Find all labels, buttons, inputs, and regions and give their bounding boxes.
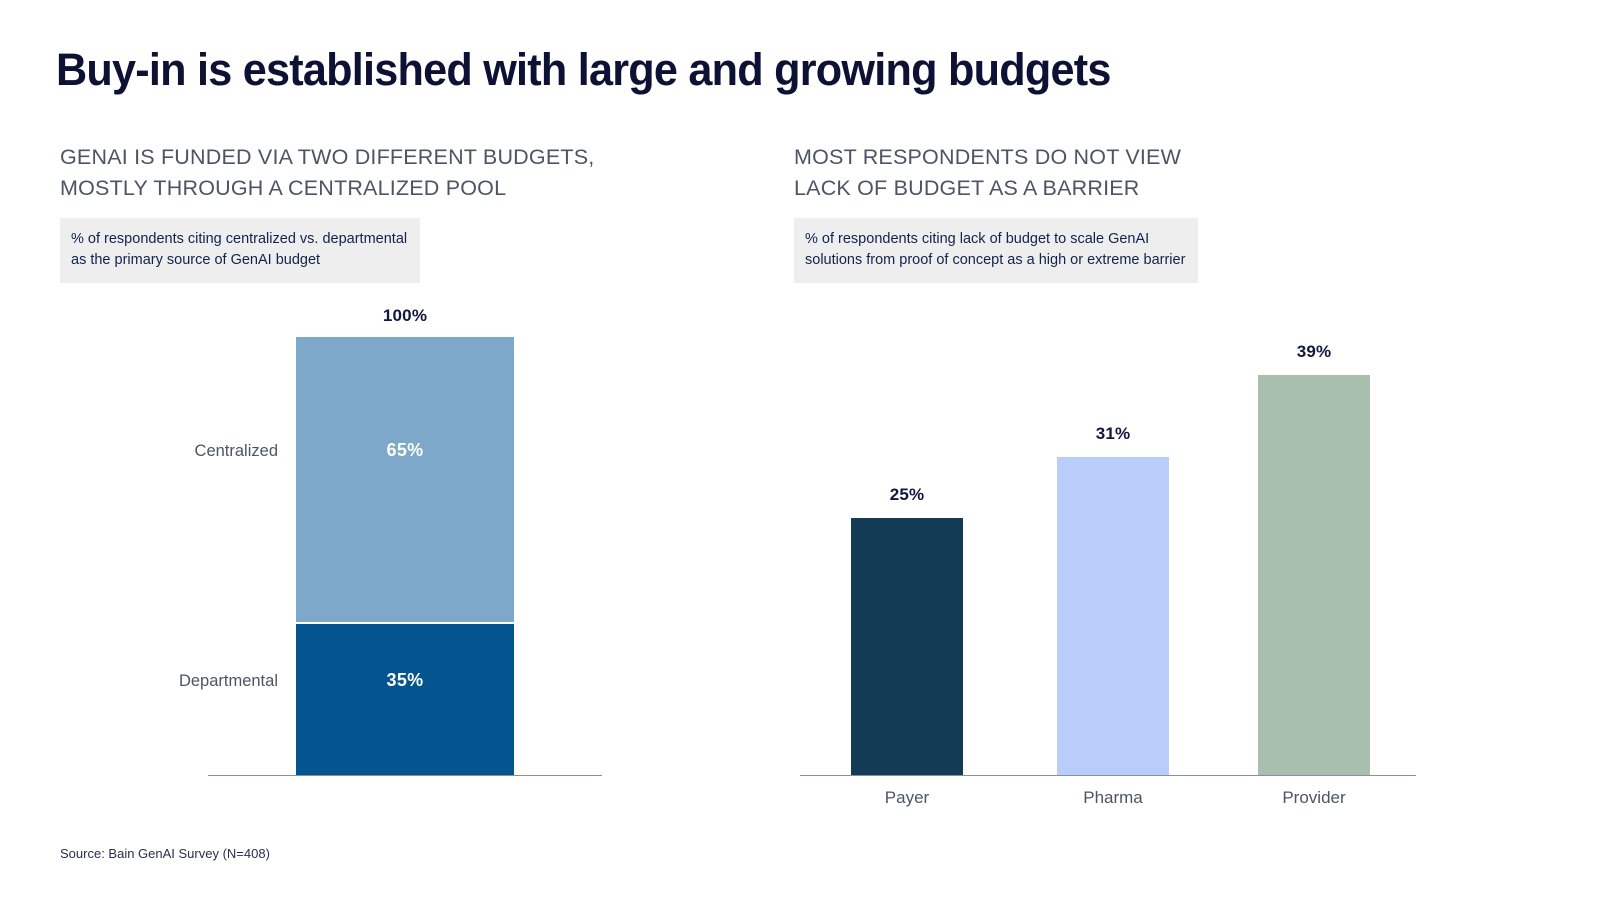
- source-note: Source: Bain GenAI Survey (N=408): [60, 846, 270, 861]
- bar-category-payer: Payer: [851, 788, 963, 808]
- panel-right-budget-barrier: MOST RESPONDENTS DO NOT VIEW LACK OF BUD…: [794, 142, 1494, 283]
- bar-segment-departmental-label: Departmental: [60, 672, 278, 691]
- stacked-bar-total-label: 100%: [296, 306, 514, 326]
- bar-pharma[interactable]: [1057, 457, 1169, 775]
- panel-left-budget-source: GENAI IS FUNDED VIA TWO DIFFERENT BUDGET…: [60, 142, 760, 283]
- bar-segment-centralized-value: 65%: [296, 440, 514, 461]
- panel-right-note: % of respondents citing lack of budget t…: [794, 218, 1198, 283]
- bar-segment-centralized[interactable]: [296, 337, 514, 622]
- bar-segment-centralized-label: Centralized: [60, 442, 278, 461]
- bar-value-pharma: 31%: [1057, 424, 1169, 444]
- bar-provider[interactable]: [1258, 375, 1370, 775]
- bar-payer[interactable]: [851, 518, 963, 775]
- bar-category-pharma: Pharma: [1057, 788, 1169, 808]
- left-chart-axis-line: [208, 775, 602, 776]
- panel-right-heading: MOST RESPONDENTS DO NOT VIEW LACK OF BUD…: [794, 142, 1494, 204]
- panel-left-note: % of respondents citing centralized vs. …: [60, 218, 420, 283]
- bar-segment-departmental[interactable]: [296, 624, 514, 775]
- bar-value-provider: 39%: [1258, 342, 1370, 362]
- panel-left-heading: GENAI IS FUNDED VIA TWO DIFFERENT BUDGET…: [60, 142, 760, 204]
- right-chart-axis-line: [800, 775, 1416, 776]
- page-title: Buy-in is established with large and gro…: [56, 44, 1111, 96]
- bar-segment-departmental-value: 35%: [296, 670, 514, 691]
- bar-value-payer: 25%: [851, 485, 963, 505]
- bar-category-provider: Provider: [1258, 788, 1370, 808]
